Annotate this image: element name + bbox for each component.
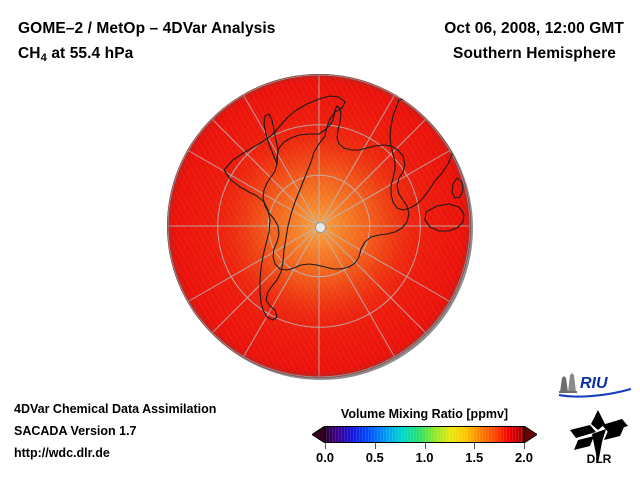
colorbar-tick [474,443,475,449]
colorbar-tick-label: 1.0 [415,450,433,465]
species-subscript: 4 [41,52,47,64]
riu-logo: RIU [557,372,633,398]
colorbar-title: Volume Mixing Ratio [ppmv] [312,407,537,421]
globe-map [167,74,471,378]
project-label: 4DVar Chemical Data Assimilation [14,398,304,420]
colorbar-gradient [325,426,524,443]
south-pole-marker [315,222,326,233]
globe-disc [167,74,471,378]
colorbar-tick-label: 2.0 [515,450,533,465]
coastline-australia [425,204,464,231]
species-name: CH [18,45,41,62]
dlr-logo: DLR [568,408,630,466]
pressure-level: at 55.4 hPa [47,45,134,62]
riu-logo-text: RIU [580,375,608,392]
region-label: Southern Hemisphere [324,41,624,66]
colorbar-tick [325,443,326,449]
colorbar-tick-label: 0.0 [316,450,334,465]
colorbar: Volume Mixing Ratio [ppmv] 0.0 0.5 1.0 1… [312,407,537,468]
colorbar-tick [425,443,426,449]
dlr-logo-text: DLR [587,452,612,466]
colorbar-tick-labels: 0.0 0.5 1.0 1.5 2.0 [325,450,524,468]
colorbar-tick [524,443,525,449]
colorbar-high-arrow-icon [524,426,537,443]
colorbar-tick-label: 1.5 [465,450,483,465]
colorbar-ticks [325,443,524,449]
colorbar-low-arrow-icon [312,426,325,443]
colorbar-dither-texture [326,427,523,442]
colorbar-row [312,426,537,443]
colorbar-tick-label: 0.5 [366,450,384,465]
version-label: SACADA Version 1.7 [14,420,304,442]
coastline-madagascar [452,178,463,198]
timestamp-label: Oct 06, 2008, 12:00 GMT [324,16,624,41]
footer-credits: 4DVar Chemical Data Assimilation SACADA … [14,398,304,464]
colorbar-tick [375,443,376,449]
header-right: Oct 06, 2008, 12:00 GMT Southern Hemisph… [324,16,624,66]
source-url[interactable]: http://wdc.dlr.de [14,442,304,464]
